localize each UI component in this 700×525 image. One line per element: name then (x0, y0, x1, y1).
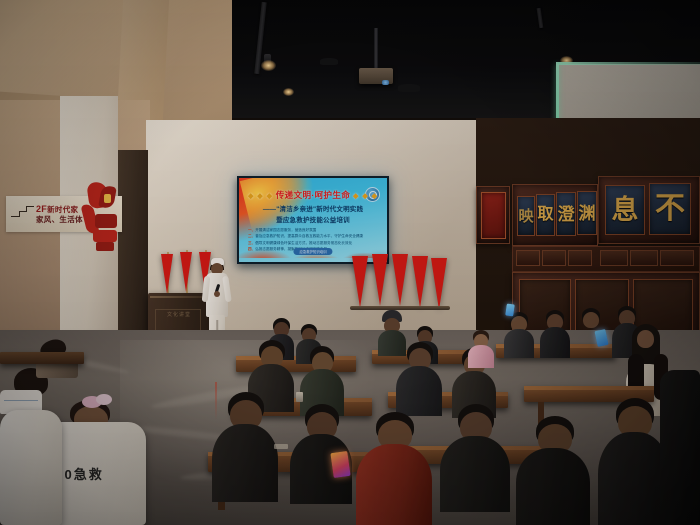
phone-screen-3[interactable] (330, 451, 350, 478)
framed-wall-art (476, 186, 510, 244)
carved-cell-2: 息 (605, 185, 645, 235)
panel-top-lightstrip (556, 62, 700, 65)
carved-char-6: 映 (518, 209, 533, 224)
projector-mount-pole (374, 28, 378, 70)
slide-subtitle-2: 暨应急救护技能公益培训 (239, 214, 387, 224)
audience-front-person-5 (516, 416, 590, 525)
agenda-text: 倡导文明健康绿色环保生活方式，推动志愿服务常态化长效化 (255, 241, 352, 245)
flag-right-3 (392, 254, 408, 306)
carved-cell-3: 渊 (577, 191, 597, 235)
projection-screen: ◆ ◆ ◆ 传递文明·呵护生命 ◆ ◆ ◆ ——"清洁乡亲进"新时代文明实践 暨… (237, 176, 389, 264)
audience-person-11 (396, 342, 442, 416)
flag-left-2 (180, 252, 192, 292)
medical-responder-second (0, 368, 62, 525)
cup-on-desk (296, 392, 303, 402)
podium-engraving: 文化讲堂 (148, 311, 210, 318)
sign-line-1: 新时代家 (47, 205, 78, 214)
carved-char-1: 不 (655, 194, 685, 224)
carved-slat-4 (600, 250, 628, 266)
carved-char-4: 澄 (558, 206, 575, 223)
flag-left-1 (161, 254, 173, 294)
lecture-hall-photo: 2F新时代家 家风、生活体 不 息 渊 澄 取 (0, 0, 700, 525)
slide-title-dots-left: ◆ ◆ ◆ (248, 193, 273, 200)
carved-cell-1: 不 (649, 183, 691, 235)
carved-panel-group-right: 不 息 (598, 176, 700, 244)
sign-line-2: 家风、生活体 (36, 215, 83, 225)
flag-right-1 (352, 256, 368, 308)
red-papercut-decoration (80, 180, 122, 258)
pink-hair-bow-2 (96, 394, 112, 405)
presentation-slide: ◆ ◆ ◆ 传递文明·呵护生命 ◆ ◆ ◆ ——"清洁乡亲进"新时代文明实践 暨… (239, 178, 387, 262)
carved-cell-4: 澄 (556, 192, 576, 236)
carved-slat-3 (568, 250, 592, 266)
audience-child-pink (468, 330, 494, 368)
ceiling-speaker-2 (398, 84, 420, 92)
medic-white-jacket-2 (0, 410, 62, 525)
stairs-arrow-icon (10, 203, 36, 225)
carved-cell-5: 取 (536, 194, 555, 236)
flag-right-4 (412, 256, 428, 308)
agenda-text: 开展清洁家园志愿服务，营造良好氛围 (255, 228, 316, 232)
sign-text-block: 2F新时代家 家风、生活体 (36, 203, 83, 225)
slide-title-text: 传递文明·呵护生命 (276, 190, 350, 200)
track-light-glow-2 (283, 88, 294, 96)
carved-char-3: 渊 (579, 205, 596, 222)
audience-front-person-4 (440, 404, 510, 512)
audience-front-person-7 (660, 370, 700, 525)
carved-panel-group-left: 渊 澄 取 映 (512, 184, 598, 246)
audience-front-person-1 (212, 392, 278, 502)
slide-title-dots-right: ◆ ◆ ◆ (353, 193, 378, 200)
agenda-text: 普及应急救护知识，提高群众自救互救能力水平，守护生命安全健康 (255, 234, 363, 238)
carved-char-2: 息 (612, 197, 639, 224)
audience-person-6 (540, 310, 570, 358)
carved-slat-1 (516, 250, 540, 266)
projector-lens-icon (382, 80, 389, 85)
ceiling-speaker (320, 58, 338, 65)
audience-front-person-3-red (356, 412, 432, 525)
presenter-hand (214, 291, 220, 297)
carved-slat-5 (630, 250, 658, 266)
track-light-glow-1 (261, 60, 276, 71)
paper-on-desk (274, 444, 288, 449)
audience-person-5 (504, 312, 534, 358)
flag-right-5 (431, 258, 447, 310)
carved-char-5: 取 (537, 207, 553, 223)
carved-slat-2 (542, 250, 566, 266)
desk-left-1 (0, 352, 84, 364)
carved-slat-6 (660, 250, 694, 266)
flag-right-2 (372, 254, 388, 306)
carved-cell-6: 映 (517, 196, 535, 236)
slide-title: ◆ ◆ ◆ 传递文明·呵护生命 ◆ ◆ ◆ (239, 189, 387, 201)
slide-badge: 应急救护知识培训 (293, 248, 332, 255)
phone-screen-2[interactable] (505, 304, 515, 317)
slide-subtitle-1: ——"清洁乡亲进"新时代文明实践 (239, 203, 387, 213)
agenda-item: 二、普及应急救护知识，提高群众自救互救能力水平，守护生命安全健康 (248, 233, 380, 239)
sign-floor-label: 2F (36, 204, 47, 214)
